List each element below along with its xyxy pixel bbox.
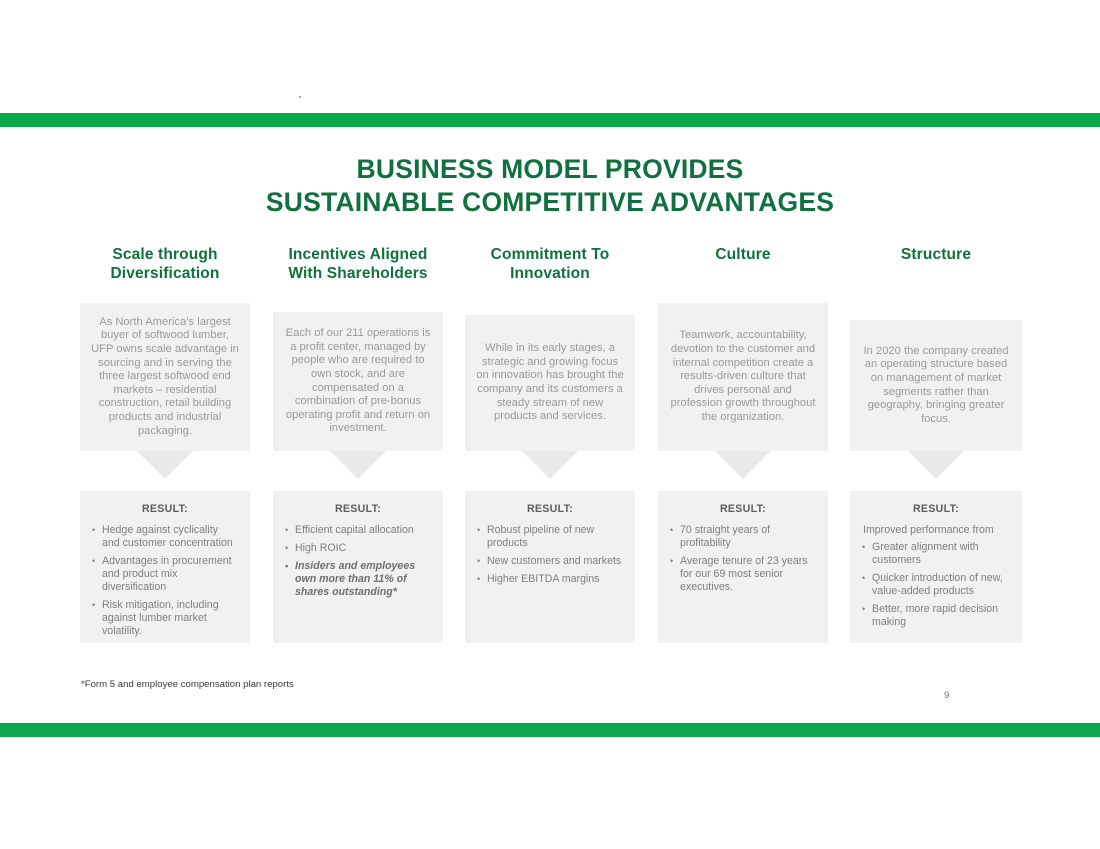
result-label: RESULT: <box>285 503 431 516</box>
column-structure: Structure <box>850 246 1022 265</box>
description-box-2: Each of our 211 operations is a profit c… <box>273 312 443 451</box>
description-text: While in its early stages, a strategic a… <box>476 342 624 424</box>
result-item: Better, more rapid decision making <box>862 603 1010 629</box>
result-item-emphasized: Insiders and employees own more than 11%… <box>285 560 431 599</box>
result-label: RESULT: <box>670 503 816 516</box>
column-heading: Incentives Aligned With Shareholders <box>273 246 443 283</box>
description-box-1: As North America’s largest buyer of soft… <box>80 303 250 451</box>
connector-arrow-1 <box>137 451 193 479</box>
result-item: 70 straight years of profitability <box>670 524 816 550</box>
description-text: Teamwork, accountability, devotion to th… <box>669 329 817 424</box>
result-label: RESULT: <box>92 503 238 516</box>
result-item: Quicker introduction of new, value-added… <box>862 572 1010 598</box>
result-lead-text: Improved performance from <box>862 524 1010 537</box>
footnote: *Form 5 and employee compensation plan r… <box>81 679 294 690</box>
result-list: Hedge against cyclicality and customer c… <box>92 524 238 638</box>
column-scale-through-diversification: Scale through Diversification <box>80 246 250 283</box>
column-incentives-aligned-with-shareholders: Incentives Aligned With Shareholders <box>273 246 443 283</box>
description-text: In 2020 the company created an operating… <box>861 345 1011 427</box>
description-box-3: While in its early stages, a strategic a… <box>465 315 635 451</box>
result-list: Efficient capital allocation High ROIC I… <box>285 524 431 599</box>
column-heading: Culture <box>658 246 828 265</box>
description-text: As North America’s largest buyer of soft… <box>91 316 239 438</box>
column-culture: Culture <box>658 246 828 265</box>
result-item: New customers and markets <box>477 555 623 568</box>
column-heading: Structure <box>850 246 1022 265</box>
result-item: Risk mitigation, including against lumbe… <box>92 599 238 638</box>
connector-arrow-5 <box>908 451 964 479</box>
result-item: Higher EBITDA margins <box>477 573 623 586</box>
result-item: Greater alignment with customers <box>862 541 1010 567</box>
column-heading: Commitment To Innovation <box>465 246 635 283</box>
description-box-4: Teamwork, accountability, devotion to th… <box>658 303 828 451</box>
result-box-1: RESULT: Hedge against cyclicality and cu… <box>80 491 250 643</box>
result-item: High ROIC <box>285 542 431 555</box>
result-box-5: RESULT: Improved performance from Greate… <box>850 491 1022 643</box>
column-commitment-to-innovation: Commitment To Innovation <box>465 246 635 283</box>
result-list: Greater alignment with customers Quicker… <box>862 541 1010 629</box>
result-box-4: RESULT: 70 straight years of profitabili… <box>658 491 828 643</box>
result-item: Robust pipeline of new products <box>477 524 623 550</box>
page-number: 9 <box>944 690 949 701</box>
result-list: Robust pipeline of new products New cust… <box>477 524 623 586</box>
connector-arrow-4 <box>715 451 771 479</box>
description-text: Each of our 211 operations is a profit c… <box>284 327 432 436</box>
result-label: RESULT: <box>862 503 1010 516</box>
result-item: Average tenure of 23 years for our 69 mo… <box>670 555 816 594</box>
result-list: 70 straight years of profitability Avera… <box>670 524 816 594</box>
description-box-5: In 2020 the company created an operating… <box>850 320 1022 451</box>
column-heading: Scale through Diversification <box>80 246 250 283</box>
connector-arrow-3 <box>522 451 578 479</box>
result-box-3: RESULT: Robust pipeline of new products … <box>465 491 635 643</box>
slide: BUSINESS MODEL PROVIDES SUSTAINABLE COMP… <box>0 0 1100 849</box>
result-label: RESULT: <box>477 503 623 516</box>
result-item: Advantages in procurement and product mi… <box>92 555 238 594</box>
result-item: Efficient capital allocation <box>285 524 431 537</box>
connector-arrow-2 <box>330 451 386 479</box>
result-box-2: RESULT: Efficient capital allocation Hig… <box>273 491 443 643</box>
result-item: Hedge against cyclicality and customer c… <box>92 524 238 550</box>
columns-container: Scale through Diversification As North A… <box>0 0 1100 849</box>
